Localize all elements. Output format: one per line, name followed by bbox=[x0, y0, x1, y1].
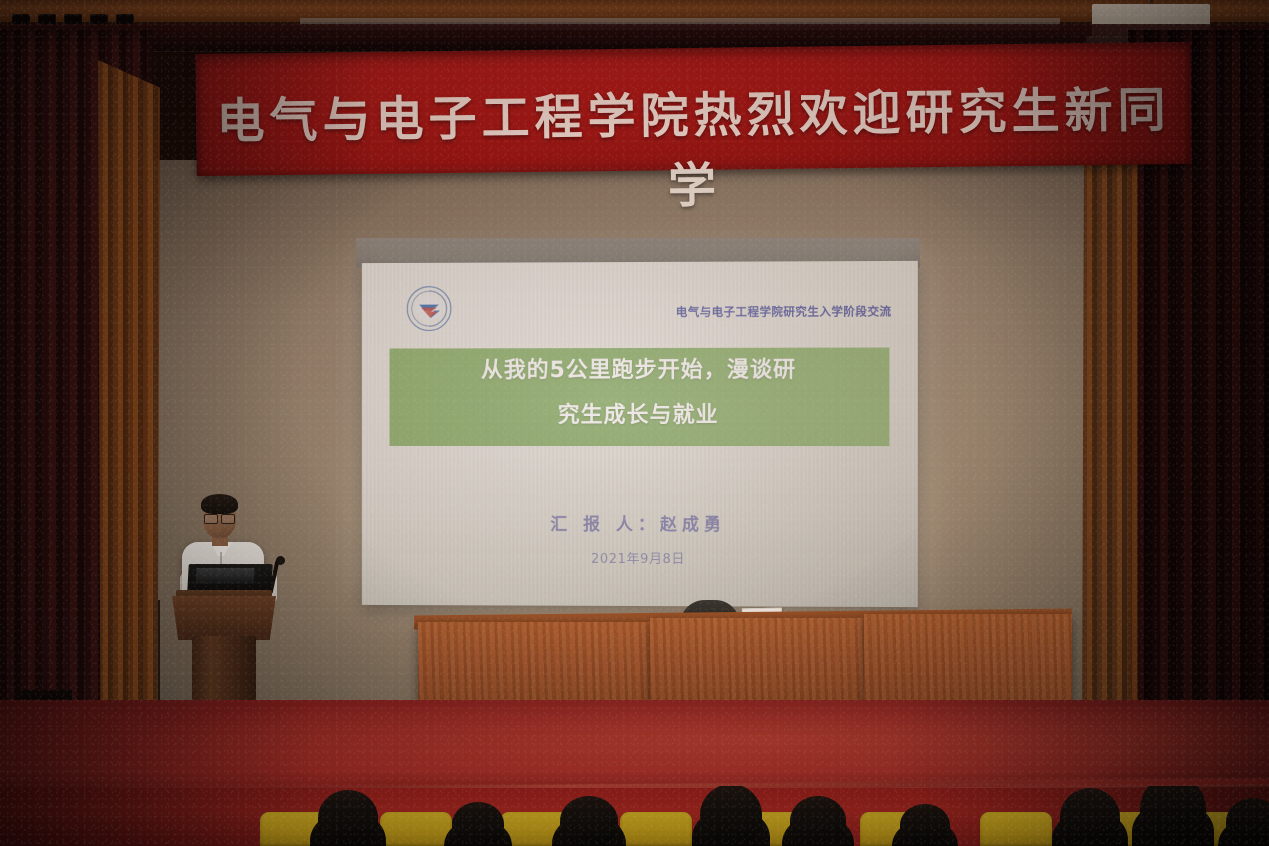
stage-drape-left bbox=[98, 60, 160, 750]
audience-person-head bbox=[700, 786, 762, 846]
auditorium-scene: 电气与电子工程学院热烈欢迎研究生新同学 电气与电子工程学院研究生入学阶段交流 从… bbox=[0, 0, 1269, 846]
microphone-head bbox=[276, 556, 285, 565]
audience bbox=[0, 786, 1269, 846]
welcome-banner: 电气与电子工程学院热烈欢迎研究生新同学 bbox=[195, 42, 1191, 176]
audience-person-head bbox=[318, 790, 378, 846]
audience-person-head bbox=[790, 796, 846, 846]
slide-presenter-text: 汇 报 人：赵成勇 bbox=[362, 510, 918, 536]
audience-person-head bbox=[452, 802, 504, 846]
speaker-hair bbox=[201, 494, 238, 514]
slide-header-text: 电气与电子工程学院研究生入学阶段交流 bbox=[481, 303, 892, 320]
presenter-laptop bbox=[187, 564, 272, 592]
audience-person-head bbox=[1060, 788, 1120, 846]
audience-seat bbox=[380, 812, 452, 846]
welcome-banner-text: 电气与电子工程学院热烈欢迎研究生新同学 bbox=[196, 70, 1193, 222]
slide-title-line-1: 从我的5公里跑步开始，漫谈研 bbox=[390, 347, 890, 393]
projection-screen: 电气与电子工程学院研究生入学阶段交流 从我的5公里跑步开始，漫谈研 究生成长与就… bbox=[362, 261, 918, 607]
audience-person-head bbox=[1226, 798, 1269, 846]
audience-person-head bbox=[560, 796, 618, 846]
laptop-screen bbox=[196, 568, 255, 584]
audience-seat bbox=[620, 812, 692, 846]
slide-title-band: 从我的5公里跑步开始，漫谈研 究生成长与就业 bbox=[390, 347, 890, 446]
slide-title-line-2: 究生成长与就业 bbox=[390, 393, 890, 438]
audience-seat bbox=[980, 812, 1052, 846]
audience-person-head bbox=[900, 804, 950, 846]
audience-person-head bbox=[1140, 786, 1206, 846]
slide-date-text: 2021年9月8日 bbox=[362, 547, 918, 568]
ncepu-emblem-icon bbox=[405, 285, 453, 333]
speaker-glasses bbox=[204, 514, 235, 522]
